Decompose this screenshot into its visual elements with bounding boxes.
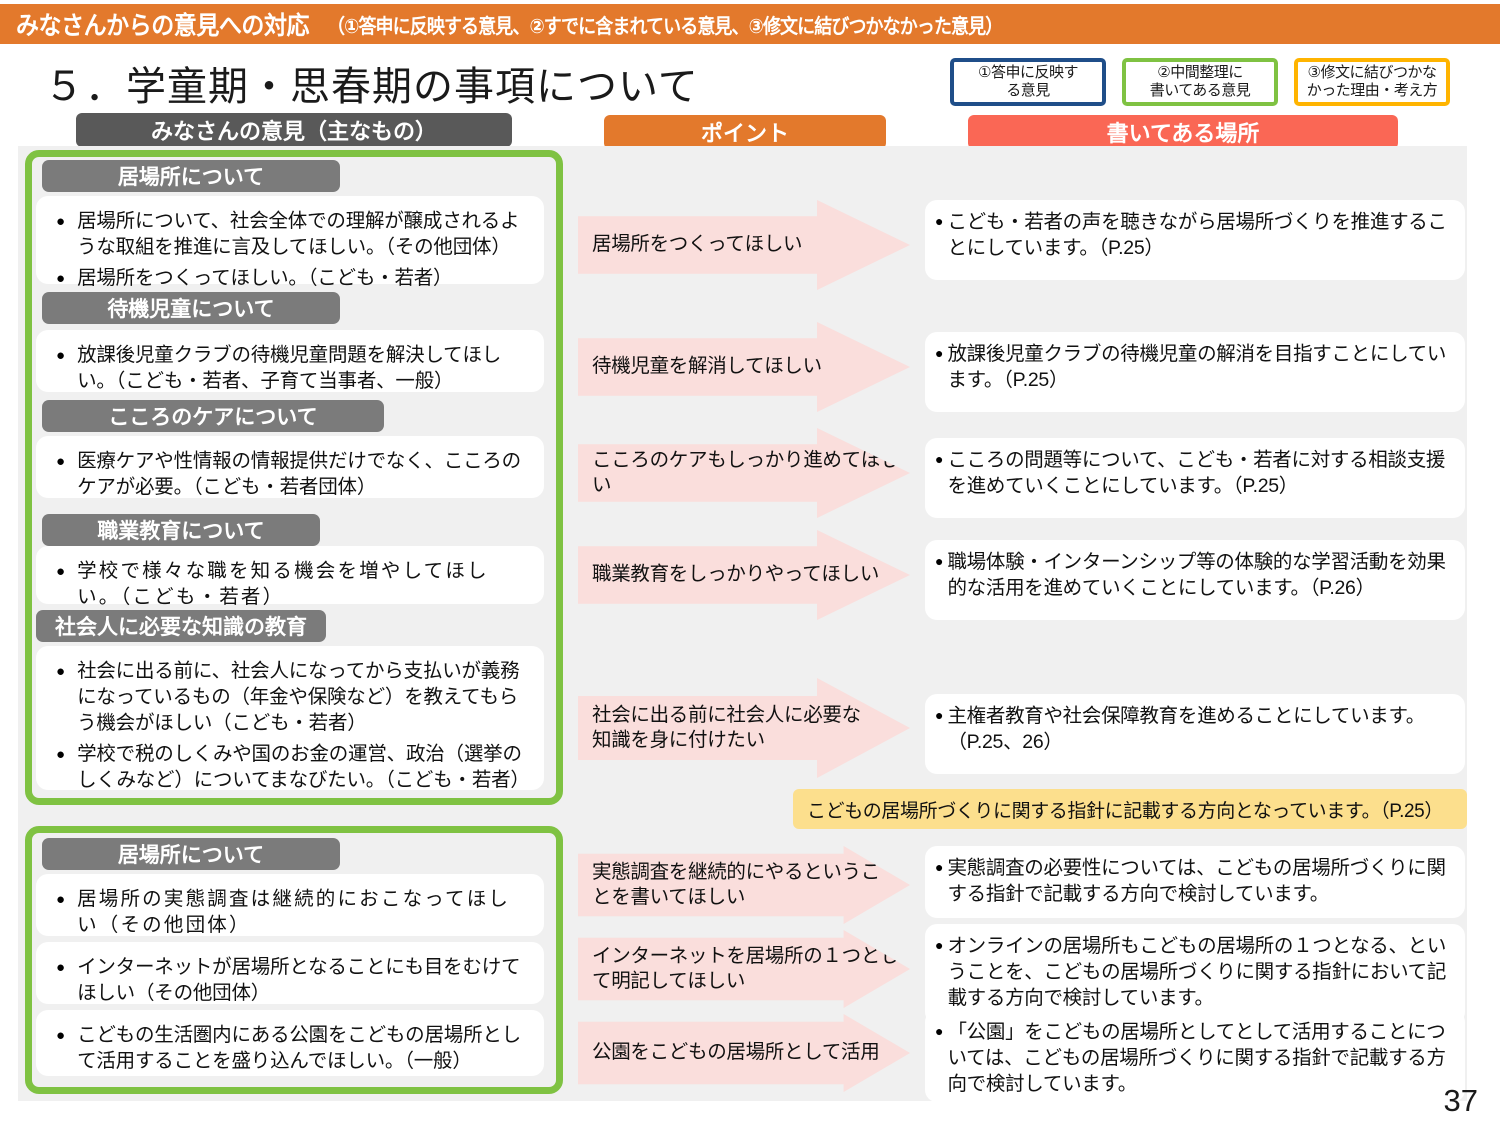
column-header-points: ポイント [604,115,886,149]
place-text: 実態調査の必要性については、こどもの居場所づくりに関する指針で記載する方向で検討… [947,855,1451,907]
bullet-icon: ● [935,933,943,953]
place-card-7: ● オンラインの居場所もこどもの居場所の１つとなる、ということを、こどもの居場所… [925,924,1465,1024]
place-card-5: ● 主権者教育や社会保障教育を進めることにしています。（P.25、26） [925,694,1465,774]
bullet-icon: ● [56,209,65,232]
list-item: ● 主権者教育や社会保障教育を進めることにしています。（P.25、26） [935,703,1451,755]
point-arrow-6: 実態調査を継続的にやるというこ とを書いてほしい [578,846,910,924]
list-item: ● 社会に出る前に、社会人になってから支払いが義務になっているもの（年金や保険な… [48,659,530,737]
list-item: ● 居場所をつくってほしい。（こども・若者） [48,266,530,292]
point-arrow-8: 公園をこどもの居場所として活用 [578,1014,910,1092]
page-title: ５．学童期・思春期の事項について [44,54,699,112]
opinion-card-7: ● インターネットが居場所となることにも目をむけてほしい（その他団体） [36,942,544,1004]
bullet-icon: ● [56,266,65,289]
list-item: ● 居場所の実態調査は継続的におこなってほしい（その他団体） [48,887,530,939]
yellow-note: こどもの居場所づくりに関する指針に記載する方向となっています。（P.25） [793,789,1467,829]
bullet-icon: ● [935,855,943,875]
section-label-ibasho-1: 居場所について [42,160,340,192]
place-text: こころの問題等について、こども・若者に対する相談支援を進めていくことにしています… [947,447,1451,499]
list-item: ● 医療ケアや性情報の情報提供だけでなく、こころのケアが必要。（こども・若者団体… [48,449,530,501]
bullet-icon: ● [935,703,943,723]
place-card-4: ● 職場体験・インターンシップ等の体験的な学習活動を効果的な活用を進めていくこと… [925,540,1465,620]
legend-chip-not-reflected[interactable]: ③修文に結びつかな かった理由・考え方 [1294,58,1450,106]
place-card-6: ● 実態調査の必要性については、こどもの居場所づくりに関する指針で記載する方向で… [925,846,1465,918]
top-banner: みなさんからの意見への対応 （①答申に反映する意見、②すでに含まれている意見、③… [0,4,1500,44]
list-item: ● こころの問題等について、こども・若者に対する相談支援を進めていくことにしてい… [935,447,1451,499]
place-card-2: ● 放課後児童クラブの待機児童の解消を目指すことにしています。（P.25） [925,332,1465,412]
section-label-kokoro: こころのケアについて [42,400,384,432]
opinion-text: 学校で様々な職を知る機会を増やしてほしい。（こども・若者） [77,559,530,611]
bullet-icon: ● [56,449,65,472]
place-text: 「公園」をこどもの居場所としてとして活用することについては、こどもの居場所づくり… [947,1019,1451,1097]
opinion-text: 放課後児童クラブの待機児童問題を解決してほしい。（こども・若者、子育て当事者、一… [77,343,530,395]
opinion-text: 居場所の実態調査は継続的におこなってほしい（その他団体） [77,887,530,939]
place-card-8: ● 「公園」をこどもの居場所としてとして活用することについては、こどもの居場所づ… [925,1010,1465,1102]
bullet-icon: ● [56,955,65,978]
place-text: 放課後児童クラブの待機児童の解消を目指すことにしています。（P.25） [947,341,1451,393]
list-item: ● 学校で税のしくみや国のお金の運営、政治（選挙のしくみなど）についてまなびたい… [48,742,530,794]
bullet-icon: ● [935,341,943,361]
section-label-shakaijin: 社会人に必要な知識の教育 [36,610,326,642]
bullet-icon: ● [56,559,65,582]
list-item: ● 居場所について、社会全体での理解が醸成されるような取組を推進に言及してほしい… [48,209,530,261]
banner-sub-title: （①答申に反映する意見、②すでに含まれている意見、③修文に結びつかなかった意見） [327,10,1002,39]
opinion-card-1: ● 居場所について、社会全体での理解が醸成されるような取組を推進に言及してほしい… [36,196,544,284]
opinion-card-8: ● こどもの生活圏内にある公園をこどもの居場所として活用することを盛り込んでほし… [36,1010,544,1076]
bullet-icon: ● [935,1019,943,1039]
legend-chip-already-included[interactable]: ②中間整理に 書いてある意見 [1122,58,1278,106]
place-text: 職場体験・インターンシップ等の体験的な学習活動を効果的な活用を進めていくことにし… [947,549,1451,601]
opinion-text: インターネットが居場所となることにも目をむけてほしい（その他団体） [77,955,530,1007]
bullet-icon: ● [935,209,943,229]
opinion-text: 居場所をつくってほしい。（こども・若者） [77,266,452,292]
place-card-1: ● こども・若者の声を聴きながら居場所づくりを推進することにしています。（P.2… [925,200,1465,280]
column-header-opinions: みなさんの意見（主なもの） [76,113,512,147]
section-label-taiki: 待機児童について [42,292,340,324]
list-item: ● オンラインの居場所もこどもの居場所の１つとなる、ということを、こどもの居場所… [935,933,1451,1011]
place-text: こども・若者の声を聴きながら居場所づくりを推進することにしています。（P.25） [947,209,1451,261]
bullet-icon: ● [935,447,943,467]
column-header-place: 書いてある場所 [968,115,1398,149]
list-item: ● 学校で様々な職を知る機会を増やしてほしい。（こども・若者） [48,559,530,611]
opinion-card-2: ● 放課後児童クラブの待機児童問題を解決してほしい。（こども・若者、子育て当事者… [36,330,544,392]
opinion-text: こどもの生活圏内にある公園をこどもの居場所として活用することを盛り込んでほしい。… [77,1023,530,1075]
section-label-ibasho-2: 居場所について [42,838,340,870]
list-item: ● 実態調査の必要性については、こどもの居場所づくりに関する指針で記載する方向で… [935,855,1451,907]
opinion-card-6: ● 居場所の実態調査は継続的におこなってほしい（その他団体） [36,874,544,936]
opinion-card-5: ● 社会に出る前に、社会人になってから支払いが義務になっているもの（年金や保険な… [36,646,544,790]
opinion-text: 社会に出る前に、社会人になってから支払いが義務になっているもの（年金や保険など）… [77,659,530,737]
bullet-icon: ● [56,1023,65,1046]
bullet-icon: ● [56,742,65,765]
opinion-text: 学校で税のしくみや国のお金の運営、政治（選挙のしくみなど）についてまなびたい。（… [77,742,530,794]
point-arrow-7: インターネットを居場所の１つとし て明記してほしい [578,930,910,1008]
list-item: ● 放課後児童クラブの待機児童問題を解決してほしい。（こども・若者、子育て当事者… [48,343,530,395]
opinion-card-4: ● 学校で様々な職を知る機会を増やしてほしい。（こども・若者） [36,546,544,604]
list-item: ● インターネットが居場所となることにも目をむけてほしい（その他団体） [48,955,530,1007]
list-item: ● こどもの生活圏内にある公園をこどもの居場所として活用することを盛り込んでほし… [48,1023,530,1075]
place-text: 主権者教育や社会保障教育を進めることにしています。（P.25、26） [947,703,1451,755]
bullet-icon: ● [56,887,65,910]
place-text: オンラインの居場所もこどもの居場所の１つとなる、ということを、こどもの居場所づく… [947,933,1451,1011]
bullet-icon: ● [935,549,943,569]
bullet-icon: ● [56,343,65,366]
opinion-text: 医療ケアや性情報の情報提供だけでなく、こころのケアが必要。（こども・若者団体） [77,449,530,501]
list-item: ● 「公園」をこどもの居場所としてとして活用することについては、こどもの居場所づ… [935,1019,1451,1097]
opinion-card-3: ● 医療ケアや性情報の情報提供だけでなく、こころのケアが必要。（こども・若者団体… [36,436,544,498]
legend-group: ①答申に反映す る意見 ②中間整理に 書いてある意見 ③修文に結びつかな かった… [950,58,1450,106]
legend-chip-reflected[interactable]: ①答申に反映す る意見 [950,58,1106,106]
bullet-icon: ● [56,659,65,682]
section-label-shokugyo: 職業教育について [42,514,320,546]
opinion-text: 居場所について、社会全体での理解が醸成されるような取組を推進に言及してほしい。（… [77,209,530,261]
slide-root: みなさんからの意見への対応 （①答申に反映する意見、②すでに含まれている意見、③… [0,0,1500,1125]
list-item: ● 職場体験・インターンシップ等の体験的な学習活動を効果的な活用を進めていくこと… [935,549,1451,601]
place-card-3: ● こころの問題等について、こども・若者に対する相談支援を進めていくことにしてい… [925,438,1465,518]
list-item: ● 放課後児童クラブの待機児童の解消を目指すことにしています。（P.25） [935,341,1451,393]
list-item: ● こども・若者の声を聴きながら居場所づくりを推進することにしています。（P.2… [935,209,1451,261]
page-number: 37 [1444,1083,1478,1119]
banner-main-title: みなさんからの意見への対応 [16,6,309,42]
